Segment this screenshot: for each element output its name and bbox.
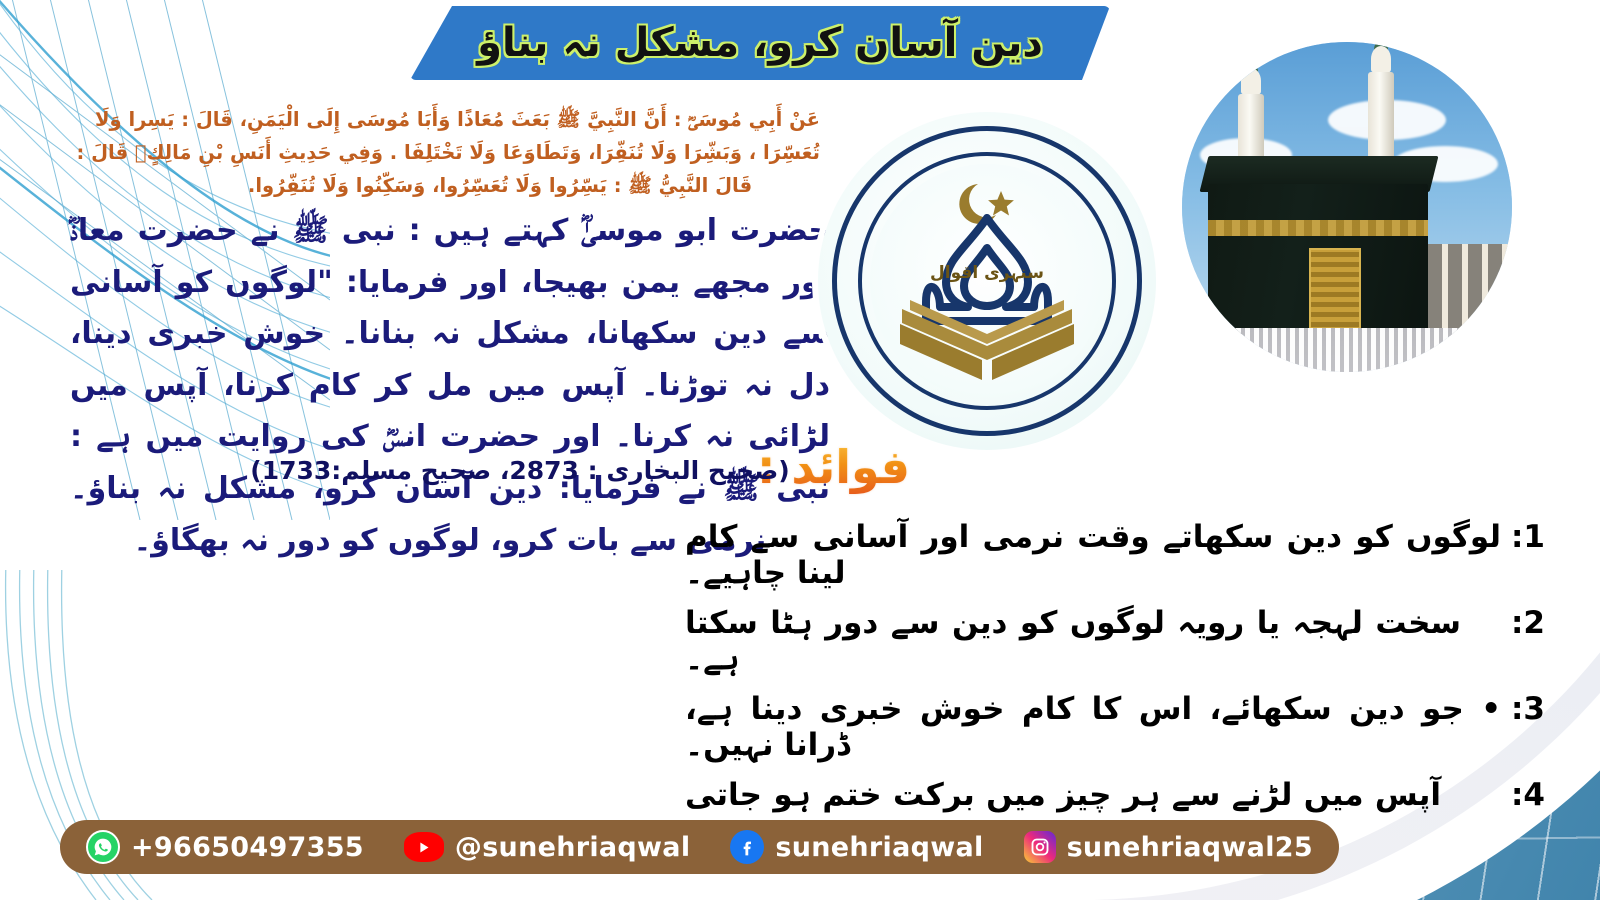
- instagram-icon[interactable]: [1024, 831, 1056, 863]
- youtube-icon[interactable]: [404, 832, 444, 862]
- contact-facebook[interactable]: sunehriaqwal: [730, 830, 983, 864]
- poster-title: دین آسان کرو، مشکل نہ بناؤ: [477, 23, 1043, 63]
- urdu-translation: حضرت ابو موسیٰؓ کہتے ہیں : نبی ﷺ نے حضرت…: [70, 205, 830, 566]
- facebook-handle: sunehriaqwal: [775, 832, 983, 863]
- point-number: 4:: [1511, 778, 1545, 814]
- contact-footer-bar: +96650497355 @sunehriaqwal sunehriaqwal: [60, 820, 1339, 874]
- arabic-line-3: قَالَ النَّبِيُّ ﷺ : يَسِّرُوا وَلَا تُع…: [180, 170, 820, 203]
- kaaba-door: [1309, 248, 1361, 334]
- poster-canvas: دین آسان کرو، مشکل نہ بناؤ عَنْ أَبِي مُ…: [0, 0, 1600, 900]
- list-item: 2: سخت لہجہ یا رویہ لوگوں کو دین سے دور …: [685, 606, 1545, 678]
- kaaba-photo: [1182, 42, 1512, 372]
- instagram-handle: sunehriaqwal25: [1067, 832, 1313, 863]
- contact-instagram[interactable]: sunehriaqwal25: [1024, 831, 1313, 863]
- point-text: سخت لہجہ یا رویہ لوگوں کو دین سے دور ہٹا…: [685, 606, 1501, 678]
- whatsapp-icon[interactable]: [86, 830, 120, 864]
- arabic-line-1: عَنْ أَبِي مُوسَىؓ : أَنَّ النَّبِيَّ ﷺ …: [180, 104, 820, 137]
- arabic-hadith-text: عَنْ أَبِي مُوسَىؓ : أَنَّ النَّبِيَّ ﷺ …: [180, 104, 820, 202]
- logo-caption: سنہری اقوال: [818, 262, 1156, 283]
- open-quran-icon: [900, 300, 1074, 380]
- list-item: 1: لوگوں کو دین سکھاتے وقت نرمی اور آسان…: [685, 520, 1545, 592]
- pilgrims-crowd: [1182, 328, 1512, 372]
- list-item: 3: • جو دین سکھائے، اس کا کام خوش خبری د…: [685, 692, 1545, 764]
- point-number: 1:: [1511, 520, 1545, 556]
- youtube-handle: @sunehriaqwal: [455, 832, 690, 863]
- fawaid-list: 1: لوگوں کو دین سکھاتے وقت نرمی اور آسان…: [685, 520, 1545, 864]
- point-text: • جو دین سکھائے، اس کا کام خوش خبری دینا…: [685, 692, 1501, 764]
- hadith-reference: (صحیح البخاری : 2873، صحیح مسلم:1733): [210, 456, 830, 485]
- contact-youtube[interactable]: @sunehriaqwal: [404, 832, 690, 863]
- kaaba-cube: [1208, 184, 1428, 334]
- poster-title-banner: دین آسان کرو، مشکل نہ بناؤ: [410, 6, 1110, 80]
- point-text: لوگوں کو دین سکھاتے وقت نرمی اور آسانی س…: [685, 520, 1501, 592]
- arabic-line-2: تُعَسِّرَا ، وَبَشِّرَا وَلَا تُنَفِّرَا…: [180, 137, 820, 170]
- point-number: 2:: [1511, 606, 1545, 642]
- brand-logo: سنہری اقوال: [818, 112, 1156, 450]
- kiswah-gold-band: [1208, 220, 1428, 236]
- contact-whatsapp[interactable]: +96650497355: [86, 830, 364, 864]
- point-number: 3:: [1511, 692, 1545, 728]
- whatsapp-number: +96650497355: [131, 832, 364, 863]
- facebook-icon[interactable]: [730, 830, 764, 864]
